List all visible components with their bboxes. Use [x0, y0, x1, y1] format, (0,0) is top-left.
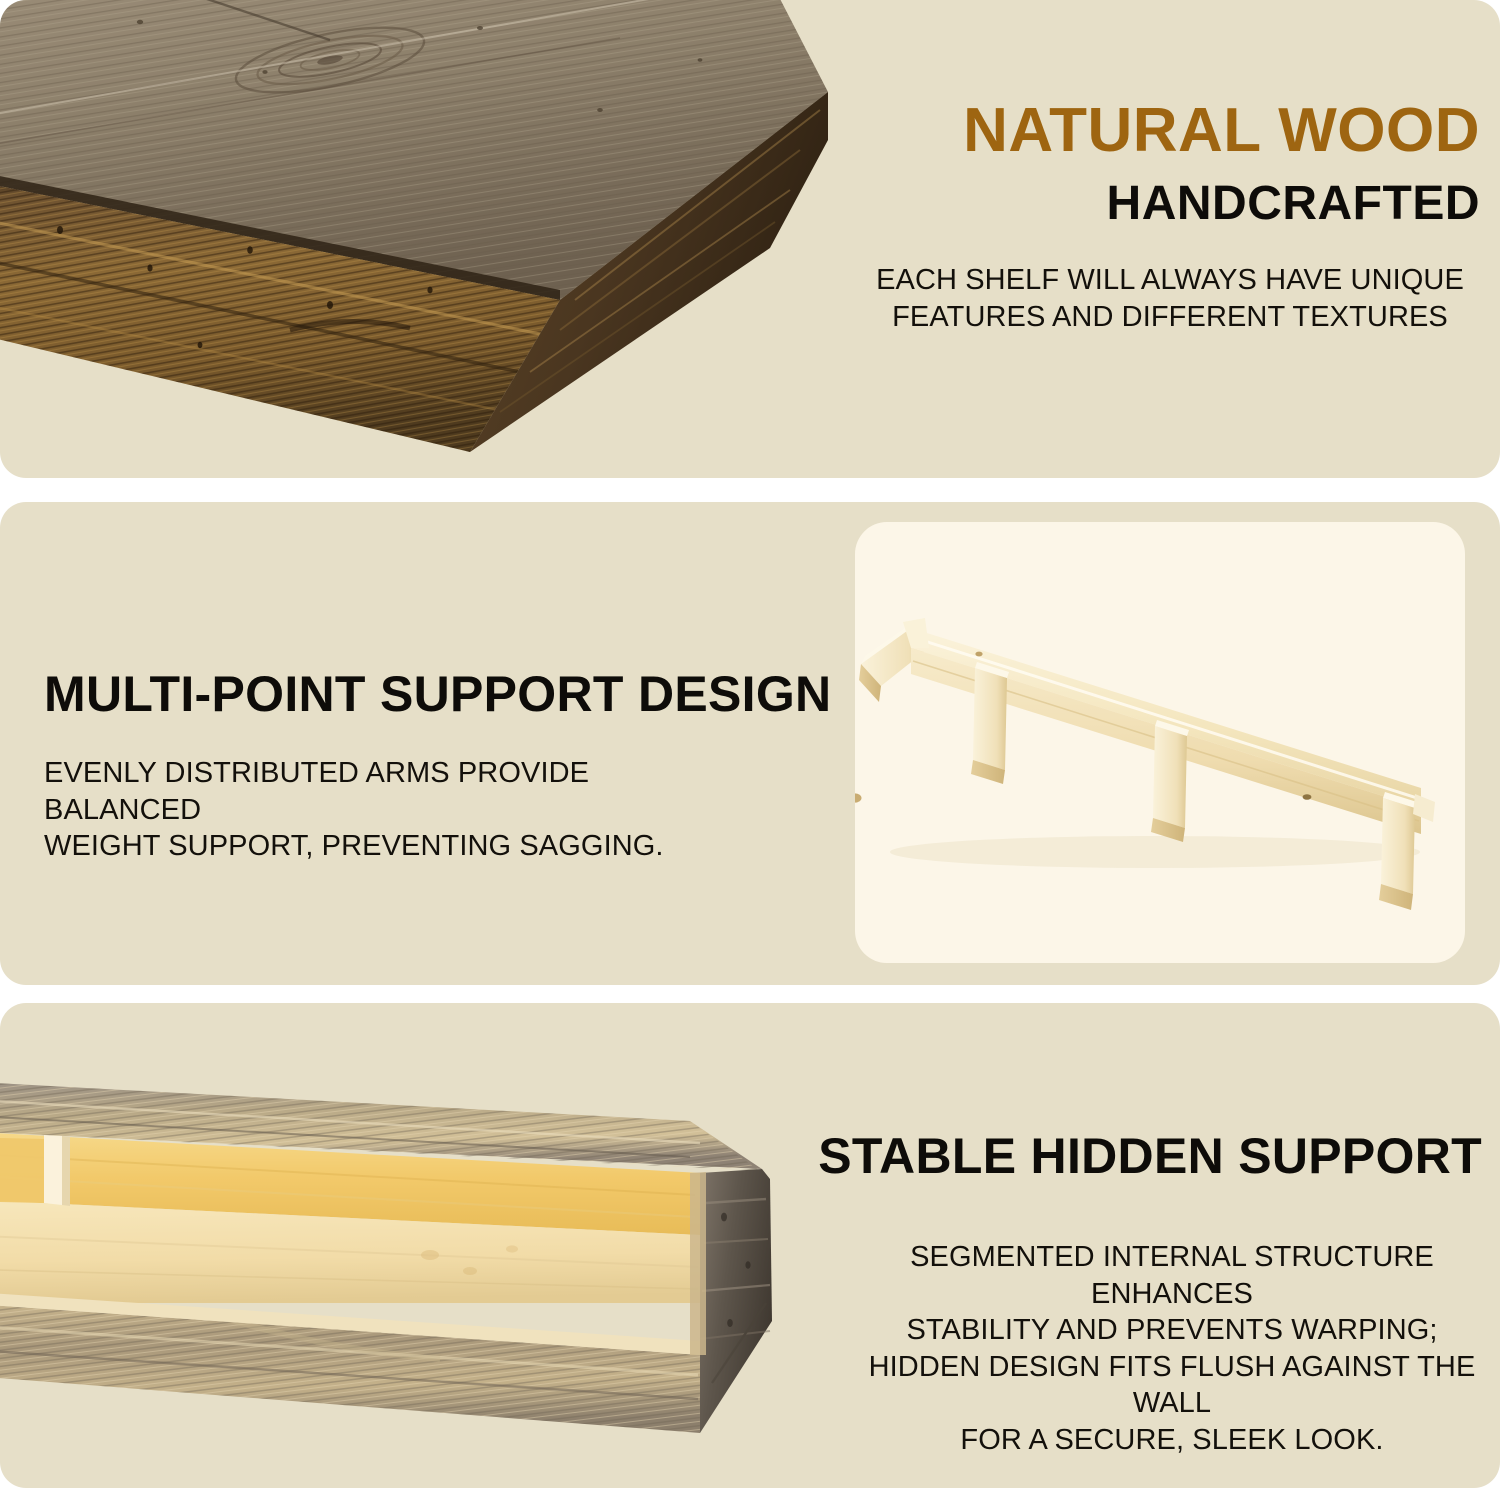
panel-natural-wood: NATURAL WOOD HANDCRAFTED EACH SHELF WILL… — [0, 0, 1500, 478]
panel-body-multi-point-support: EVENLY DISTRIBUTED ARMS PROVIDE BALANCED… — [44, 755, 724, 865]
bracket-arm-2 — [971, 662, 1009, 784]
panel-title-natural-wood: NATURAL WOOD — [963, 100, 1480, 162]
body-line: HIDDEN DESIGN FITS FLUSH AGAINST THE WAL… — [862, 1349, 1482, 1422]
panel-stable-hidden-support: STABLE HIDDEN SUPPORT SEGMENTED INTERNAL… — [0, 1003, 1500, 1488]
screw-hole — [855, 793, 862, 802]
panel-title-stable-hidden-support: STABLE HIDDEN SUPPORT — [818, 1131, 1482, 1181]
panel-body-natural-wood: EACH SHELF WILL ALWAYS HAVE UNIQUE FEATU… — [860, 262, 1480, 335]
body-line: STABILITY AND PREVENTS WARPING; — [862, 1312, 1482, 1349]
panel-title-multi-point-support: MULTI-POINT SUPPORT DESIGN — [44, 669, 831, 719]
panel-body-stable-hidden-support: SEGMENTED INTERNAL STRUCTURE ENHANCES ST… — [862, 1239, 1482, 1458]
internal-divider — [44, 1135, 70, 1206]
body-line: SEGMENTED INTERNAL STRUCTURE ENHANCES — [862, 1239, 1482, 1312]
bracket-image-card — [855, 522, 1465, 963]
body-line: EACH SHELF WILL ALWAYS HAVE UNIQUE — [860, 262, 1480, 299]
body-line: WEIGHT SUPPORT, PREVENTING SAGGING. — [44, 828, 724, 865]
body-line: FOR A SECURE, SLEEK LOOK. — [862, 1422, 1482, 1459]
body-line: EVENLY DISTRIBUTED ARMS PROVIDE BALANCED — [44, 755, 724, 828]
body-line: FEATURES AND DIFFERENT TEXTURES — [860, 299, 1480, 336]
hollow-shelf-internal-structure-photo — [0, 1003, 900, 1488]
wooden-multi-arm-bracket-photo — [855, 522, 1465, 963]
reclaimed-wood-shelf-corner-photo — [0, 0, 900, 478]
bracket-arm-right — [1379, 792, 1417, 910]
bracket-arm-3 — [1151, 720, 1189, 842]
panel-subtitle-handcrafted: HANDCRAFTED — [1107, 180, 1480, 228]
infographic-sheet: NATURAL WOOD HANDCRAFTED EACH SHELF WILL… — [0, 0, 1500, 1488]
panel-multi-point-support: MULTI-POINT SUPPORT DESIGN EVENLY DISTRI… — [0, 502, 1500, 985]
